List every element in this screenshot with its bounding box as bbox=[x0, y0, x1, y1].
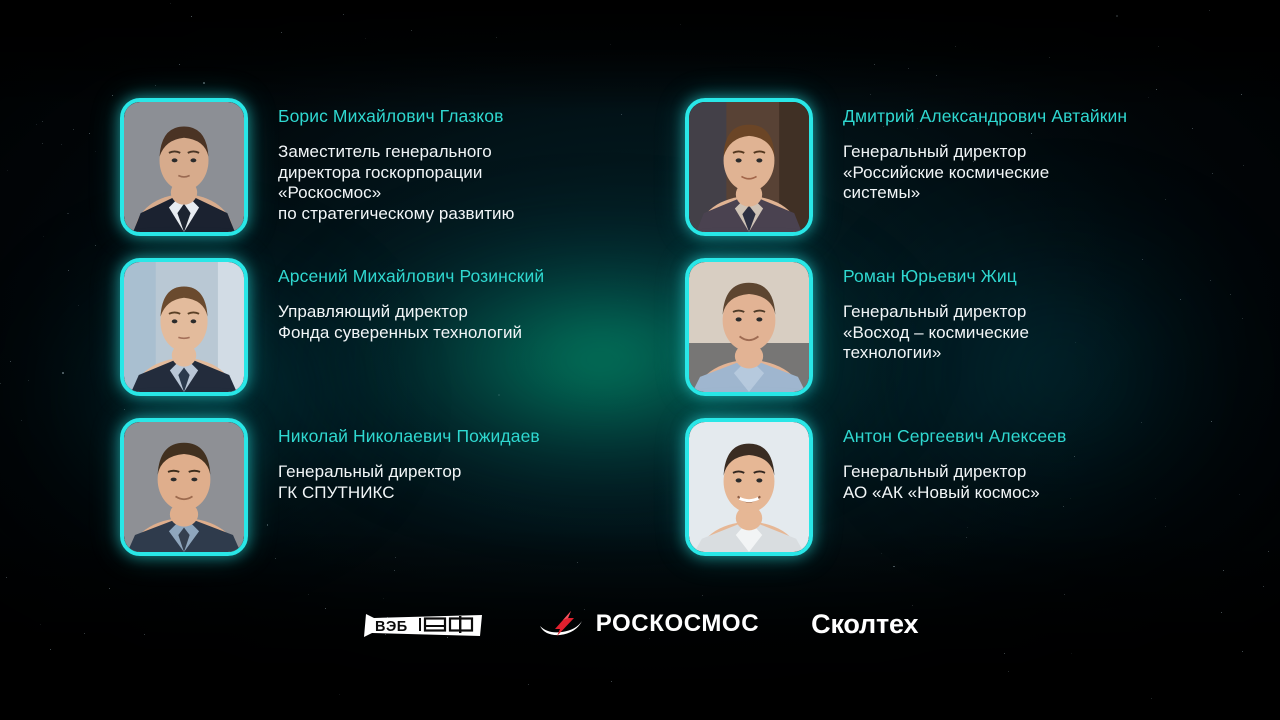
speaker-name: Роман Юрьевич Жиц bbox=[843, 266, 1029, 286]
speaker-photo-frame bbox=[120, 418, 248, 556]
portrait-illustration bbox=[124, 262, 244, 392]
star bbox=[275, 558, 276, 559]
veb-rf-logo-icon: ВЭБ bbox=[362, 606, 486, 642]
star bbox=[627, 300, 628, 301]
star bbox=[1223, 570, 1224, 571]
logo-roscosmos: РОСКОСМОС bbox=[538, 609, 759, 639]
star bbox=[1263, 586, 1264, 587]
speaker-info: Антон Сергеевич Алексеев Генеральный дир… bbox=[843, 418, 1066, 503]
speaker-portrait bbox=[689, 422, 809, 552]
star bbox=[1004, 653, 1005, 654]
star bbox=[611, 681, 612, 682]
speaker-title: Генеральный директор ГК СПУТНИКС bbox=[278, 462, 540, 503]
star bbox=[1155, 498, 1156, 499]
portrait-illustration bbox=[124, 102, 244, 232]
speaker-photo-frame bbox=[685, 98, 813, 236]
partner-logos: ВЭБ РОСКОСМОС Сколтех bbox=[0, 606, 1280, 642]
speaker-info: Арсений Михайлович Розинский Управляющий… bbox=[278, 258, 544, 343]
speaker-photo-frame bbox=[685, 418, 813, 556]
speaker-title: Генеральный директор «Восход – космическ… bbox=[843, 302, 1029, 364]
speaker-title: Управляющий директор Фонда суверенных те… bbox=[278, 302, 544, 343]
logo-skoltech: Сколтех bbox=[811, 609, 918, 640]
star bbox=[6, 577, 7, 578]
star bbox=[62, 372, 64, 374]
portrait-illustration bbox=[689, 102, 809, 232]
star bbox=[1116, 15, 1118, 17]
speaker-info: Николай Николаевич Пожидаев Генеральный … bbox=[278, 418, 540, 503]
speaker-portrait bbox=[124, 422, 244, 552]
speaker-card: Арсений Михайлович Розинский Управляющий… bbox=[120, 258, 544, 396]
speaker-photo-frame bbox=[120, 98, 248, 236]
speaker-card: Николай Николаевич Пожидаев Генеральный … bbox=[120, 418, 540, 556]
portrait-illustration bbox=[124, 422, 244, 552]
speaker-portrait bbox=[124, 262, 244, 392]
star bbox=[203, 82, 205, 84]
speaker-photo-frame bbox=[685, 258, 813, 396]
speaker-photo-frame bbox=[120, 258, 248, 396]
star bbox=[1242, 651, 1243, 652]
star bbox=[394, 570, 395, 571]
presentation-slide: Борис Михайлович Глазков Заместитель ген… bbox=[0, 0, 1280, 720]
speaker-title: Генеральный директор «Российские космиче… bbox=[843, 142, 1127, 204]
star bbox=[124, 409, 125, 410]
speaker-portrait bbox=[689, 262, 809, 392]
speaker-portrait bbox=[689, 102, 809, 232]
speaker-name: Арсений Михайлович Розинский bbox=[278, 266, 544, 286]
speaker-info: Борис Михайлович Глазков Заместитель ген… bbox=[278, 98, 514, 224]
portrait-illustration bbox=[689, 262, 809, 392]
speaker-title: Заместитель генерального директора госко… bbox=[278, 142, 514, 224]
star bbox=[78, 305, 79, 306]
portrait-illustration bbox=[689, 422, 809, 552]
star bbox=[21, 420, 22, 421]
speaker-info: Роман Юрьевич Жиц Генеральный директор «… bbox=[843, 258, 1029, 364]
star bbox=[955, 46, 956, 47]
star bbox=[496, 37, 497, 38]
speaker-info: Дмитрий Александрович Автайкин Генеральн… bbox=[843, 98, 1127, 204]
star bbox=[702, 595, 703, 596]
veb-text: ВЭБ bbox=[375, 619, 408, 635]
roscosmos-wordmark: РОСКОСМОС bbox=[596, 610, 759, 638]
speaker-card: Антон Сергеевич Алексеев Генеральный дир… bbox=[685, 418, 1066, 556]
star bbox=[1071, 653, 1072, 654]
star bbox=[1243, 165, 1244, 166]
star bbox=[365, 38, 366, 39]
speaker-card: Роман Юрьевич Жиц Генеральный директор «… bbox=[685, 258, 1029, 396]
speaker-name: Дмитрий Александрович Автайкин bbox=[843, 106, 1127, 126]
star bbox=[1239, 494, 1240, 495]
star bbox=[1158, 46, 1159, 47]
star bbox=[308, 594, 309, 595]
speaker-name: Антон Сергеевич Алексеев bbox=[843, 426, 1066, 446]
star bbox=[1268, 551, 1269, 552]
star bbox=[1210, 280, 1211, 281]
star bbox=[908, 68, 909, 69]
speaker-portrait bbox=[124, 102, 244, 232]
speaker-name: Николай Николаевич Пожидаев bbox=[278, 426, 540, 446]
star bbox=[170, 3, 171, 4]
speaker-card: Дмитрий Александрович Автайкин Генеральн… bbox=[685, 98, 1127, 236]
star bbox=[343, 14, 344, 15]
star bbox=[1165, 526, 1166, 527]
speaker-card: Борис Михайлович Глазков Заместитель ген… bbox=[120, 98, 514, 236]
star bbox=[42, 121, 43, 122]
logo-veb-rf: ВЭБ bbox=[362, 606, 486, 642]
star bbox=[1075, 342, 1076, 343]
speaker-name: Борис Михайлович Глазков bbox=[278, 106, 514, 126]
star bbox=[281, 32, 282, 33]
star bbox=[28, 380, 29, 381]
star bbox=[577, 562, 578, 563]
speaker-title: Генеральный директор АО «АК «Новый космо… bbox=[843, 462, 1066, 503]
skoltech-wordmark: Сколтех bbox=[811, 609, 918, 640]
roscosmos-mark-icon bbox=[538, 609, 584, 639]
star bbox=[1192, 128, 1193, 129]
star bbox=[411, 30, 412, 31]
